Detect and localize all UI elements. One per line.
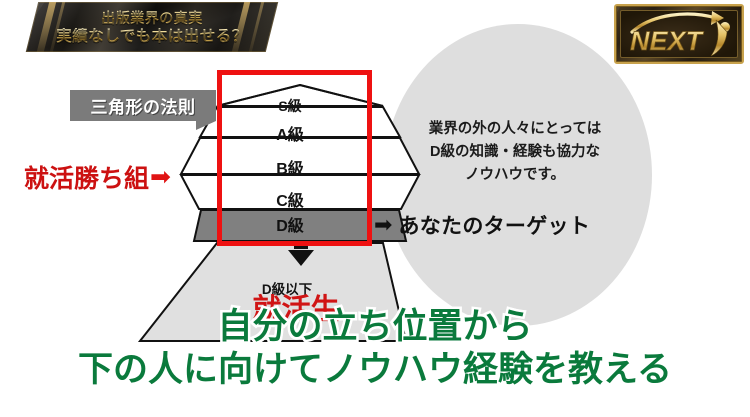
circle-paragraph-line-1: 業界の外の人々にとっては (392, 118, 638, 141)
circle-paragraph-line-3: ノウハウです。 (392, 164, 638, 187)
target-label-text: あなたのターゲット (398, 210, 590, 240)
title-banner (26, 2, 278, 52)
target-arrow-icon: ➡ (374, 214, 392, 236)
rule-banner: 三角形の法則 (70, 90, 216, 121)
winner-label: 就活勝ち組 ➡ (24, 160, 220, 194)
slide-canvas: S級 A級 B級 C級 D級 D級以下 就活生 三角形の法則 就活勝ち組 ➡ ➡… (0, 0, 750, 417)
svg-text:NEXT: NEXT (630, 26, 705, 56)
jobseeker-label: 就活生 (236, 296, 356, 325)
next-logo[interactable]: NEXT (614, 4, 744, 64)
circle-paragraph-line-2: D級の知識・経験も協力な (392, 141, 638, 164)
right-arrow-icon: ➡ (150, 165, 171, 190)
rule-banner-label: 三角形の法則 (91, 93, 196, 118)
winner-label-text: 就活勝ち組 (24, 159, 149, 195)
circle-paragraph: 業界の外の人々にとっては D級の知識・経験も協力な ノウハウです。 (392, 118, 638, 187)
rule-banner-tail (196, 121, 216, 130)
target-label: ➡ あなたのターゲット (374, 210, 590, 240)
next-logo-icon: NEXT (616, 6, 742, 62)
red-highlight-box (217, 70, 372, 246)
